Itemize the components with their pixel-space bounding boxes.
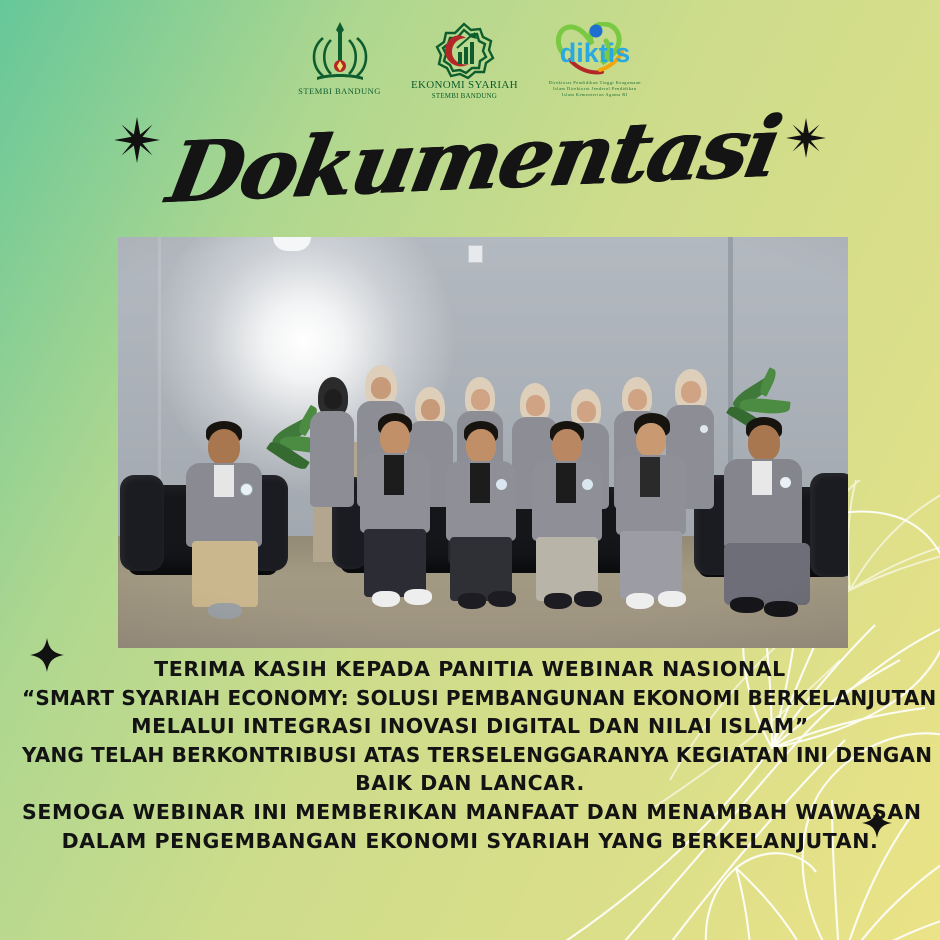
diktis-logo: diktis Direktorat Pendidikan Tinggi Keag… xyxy=(548,22,642,98)
ekonomi-syariah-logo-caption: EKONOMI SYARIAH xyxy=(411,80,518,92)
ekonomi-syariah-logo-subcaption: STEMBI BANDUNG xyxy=(432,93,497,100)
message-line: DALAM PENGEMBANGAN EKONOMI SYARIAH YANG … xyxy=(22,827,918,856)
stembi-crest-icon xyxy=(307,22,373,86)
message-line: “SMART SYARIAH ECONOMY: SOLUSI PEMBANGUN… xyxy=(22,684,918,713)
diktis-logo-subcaption: Direktorat Pendidikan Tinggi Keagamaan I… xyxy=(548,80,642,98)
message-line: YANG TELAH BERKONTRIBUSI ATAS TERSELENGG… xyxy=(22,741,918,770)
message-line: BAIK DAN LANCAR. xyxy=(22,769,918,798)
message-line: TERIMA KASIH KEPADA PANITIA WEBINAR NASI… xyxy=(22,655,918,684)
diktis-heart-icon: diktis xyxy=(548,22,642,78)
title-row: Dokumentasi xyxy=(0,118,940,202)
stembi-bandung-logo: STEMBI BANDUNG xyxy=(298,22,381,96)
ekonomi-syariah-logo: EKONOMI SYARIAH STEMBI BANDUNG xyxy=(411,22,518,100)
ekonomi-syariah-star-icon xyxy=(433,22,495,80)
thank-you-message: TERIMA KASIH KEPADA PANITIA WEBINAR NASI… xyxy=(0,655,940,855)
logo-row: STEMBI BANDUNG EKONOMI SYARIAH STEMBI BA… xyxy=(0,22,940,100)
page-title: Dokumentasi xyxy=(161,105,784,215)
poster-canvas: STEMBI BANDUNG EKONOMI SYARIAH STEMBI BA… xyxy=(0,0,940,940)
message-line: SEMOGA WEBINAR INI MEMBERIKAN MANFAAT DA… xyxy=(22,798,918,827)
stembi-logo-caption: STEMBI BANDUNG xyxy=(298,87,381,96)
eight-point-star-icon xyxy=(786,118,826,158)
svg-text:diktis: diktis xyxy=(560,38,631,68)
eight-point-star-icon xyxy=(114,117,160,163)
message-line: MELALUI INTEGRASI INOVASI DIGITAL DAN NI… xyxy=(22,712,918,741)
group-photo-webinar-committee xyxy=(118,237,848,648)
